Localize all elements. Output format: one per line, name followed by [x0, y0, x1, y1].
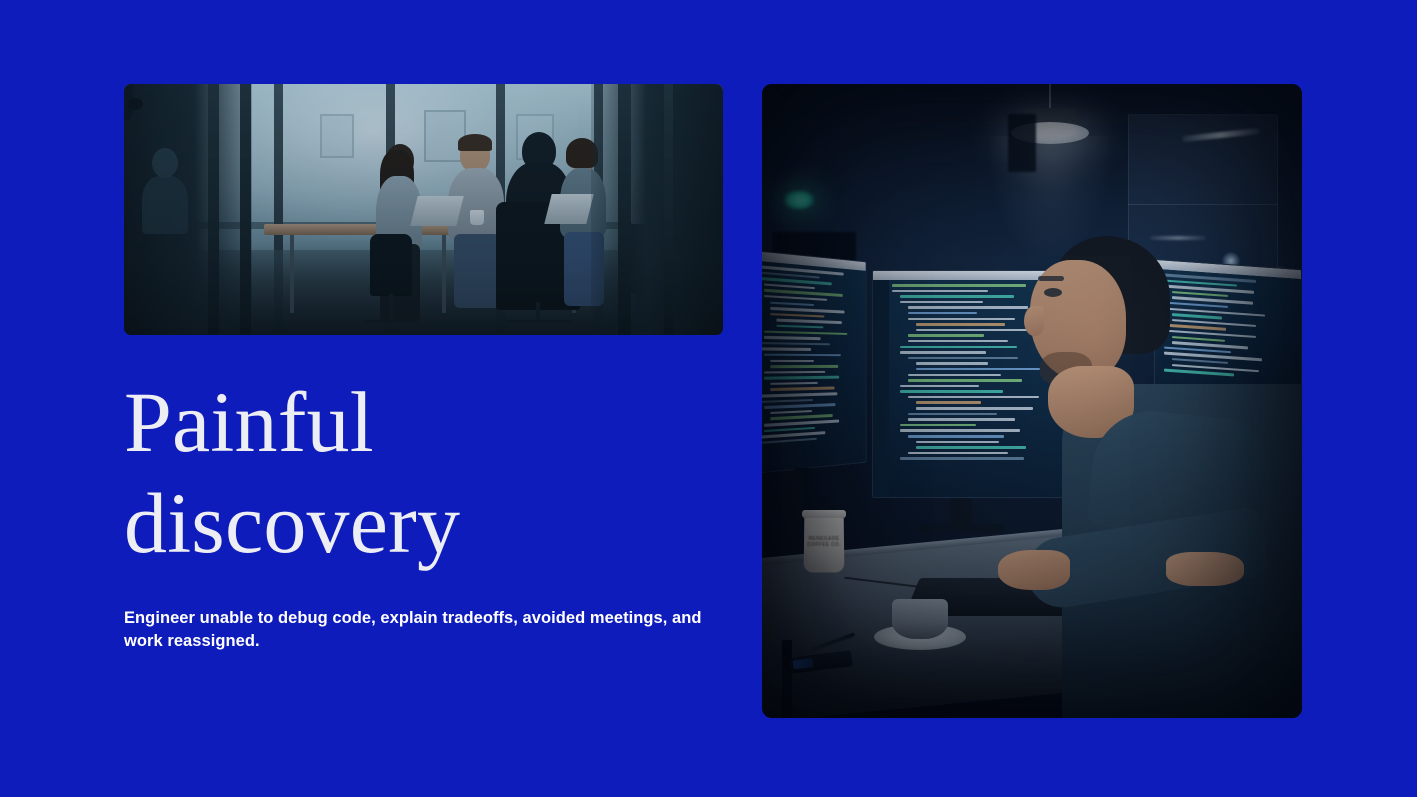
left-column: Painful discovery Engineer unable to deb… — [124, 84, 724, 644]
slide-root: Painful discovery Engineer unable to deb… — [0, 0, 1417, 797]
page-subtitle: Engineer unable to debug code, explain t… — [124, 607, 704, 654]
office-meeting-photo — [124, 84, 723, 335]
meeting-color-grade — [124, 84, 723, 335]
text-block: Painful discovery Engineer unable to deb… — [124, 372, 724, 654]
engineer-at-monitors-photo: RENEGADE COFFEE CO. — [762, 84, 1302, 718]
dev-vignette — [762, 84, 1302, 718]
page-title: Painful discovery — [124, 372, 724, 575]
